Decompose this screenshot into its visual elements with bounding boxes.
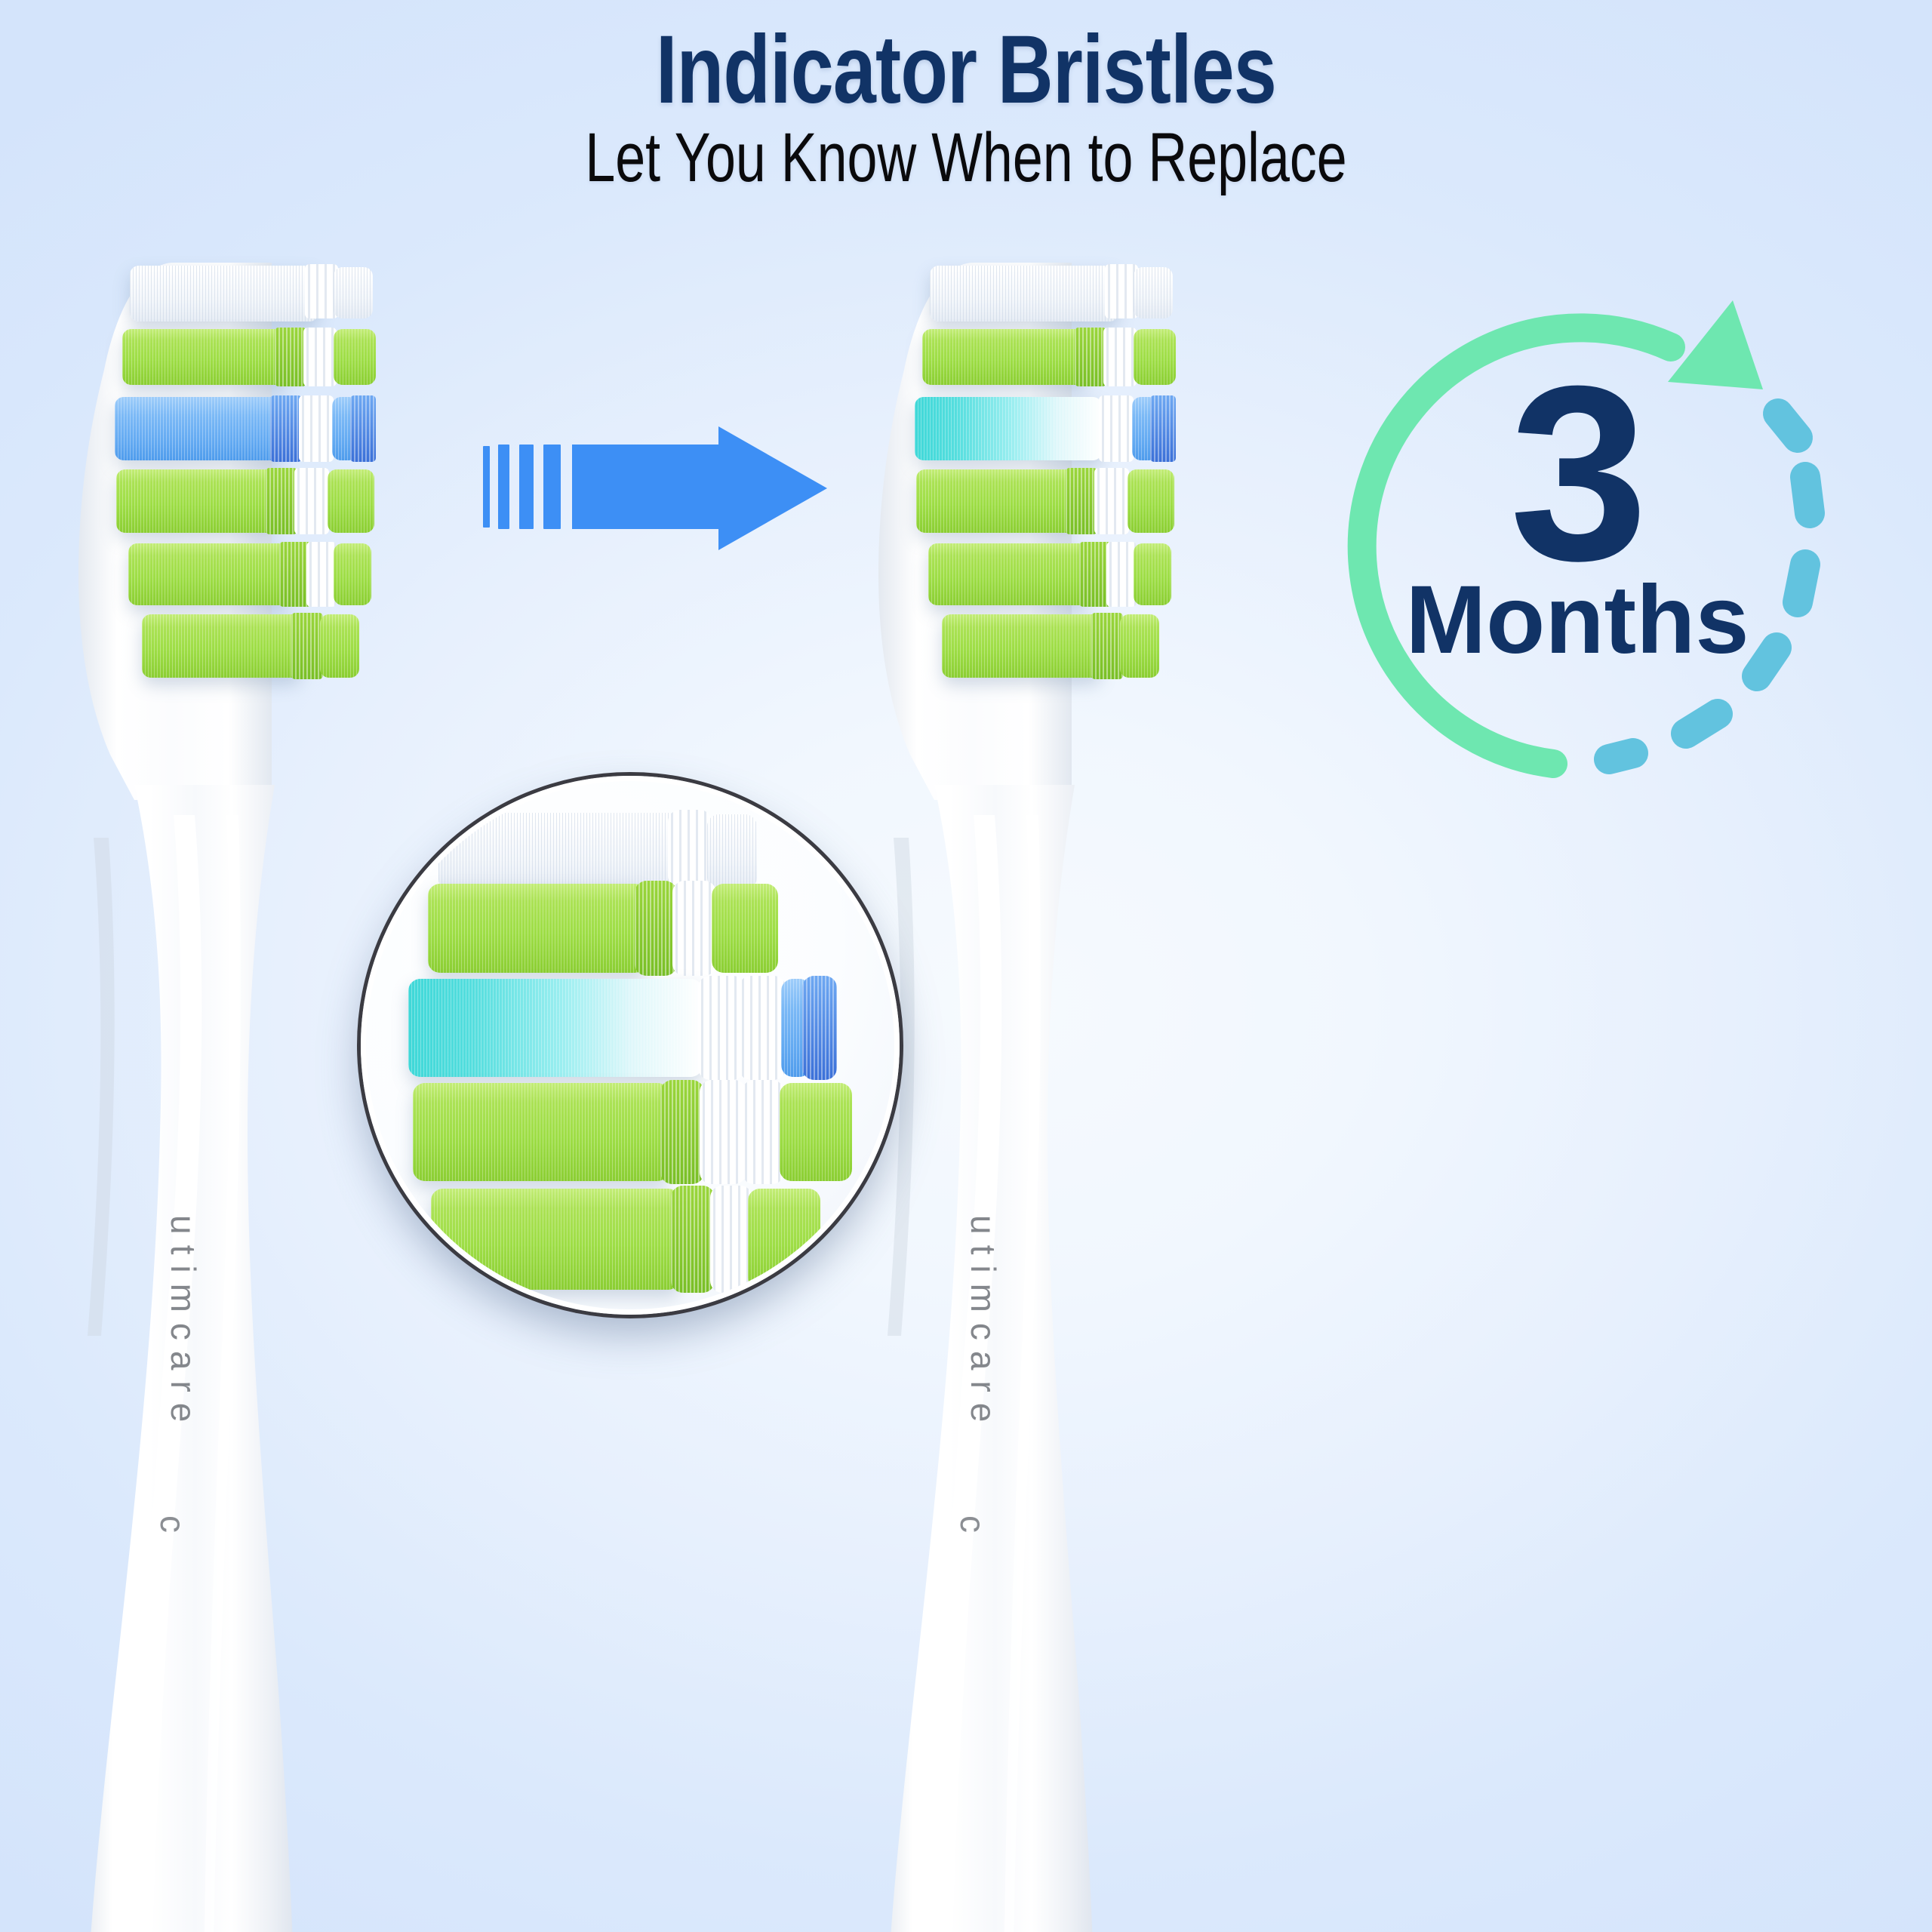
brand-glyph-right: c — [952, 1515, 993, 1533]
badge-number: 3 — [1313, 349, 1841, 598]
mag-tuft-white-3b — [742, 1080, 784, 1184]
time-progression-arrow — [483, 426, 830, 570]
bristle-row-white-top-right — [1134, 267, 1173, 318]
mag-row-green-3 — [431, 1189, 680, 1290]
bristle-row-green-2 — [916, 469, 1075, 533]
bristle-tuft-white-2 — [1099, 395, 1134, 462]
mag-tip-green-2 — [660, 1080, 704, 1184]
bristle-tip-green-1 — [275, 328, 306, 386]
mag-row-green-1-right — [712, 884, 778, 973]
page-subtitle: Let You Know When to Replace — [213, 123, 1720, 194]
bristle-tip-green-4 — [291, 613, 323, 679]
bristle-row-green-2-right — [1128, 469, 1174, 533]
bristle-field-left — [85, 264, 401, 717]
bristle-row-green-4-right — [320, 614, 359, 678]
magnifier-contents — [366, 781, 894, 1309]
bristle-row-green-1-right — [1134, 329, 1176, 385]
bristle-row-green-3 — [128, 543, 288, 605]
bristle-row-green-3-right — [1134, 543, 1171, 605]
mag-indicator-blue-right-tip — [802, 976, 837, 1080]
bristle-row-green-4-right — [1120, 614, 1159, 678]
bristle-tuft-white-1 — [303, 328, 337, 386]
bristle-row-green-2 — [116, 469, 275, 533]
page-title: Indicator Bristles — [193, 21, 1739, 120]
mag-indicator-bristle-faded — [408, 979, 703, 1077]
toothbrush-head-worn: utimcare c — [845, 257, 1268, 1932]
bristle-field-right — [884, 264, 1201, 717]
badge-unit-label: Months — [1313, 572, 1841, 669]
mag-tuft-white-2b — [739, 976, 786, 1080]
indicator-bristle-blue — [115, 397, 282, 460]
bristle-tuft-white-4 — [1106, 542, 1137, 607]
bristle-row-green-4 — [142, 614, 300, 678]
bristle-tuft-white-3 — [1094, 468, 1129, 534]
bristle-row-green-3 — [928, 543, 1088, 605]
mag-row-white-top — [438, 813, 680, 891]
bristle-tip-green-4 — [1091, 613, 1123, 679]
bristle-row-white-top-right — [334, 267, 373, 318]
bristle-tuft-white-3 — [294, 468, 329, 534]
bristle-row-green-1 — [122, 329, 287, 385]
mag-row-green-1 — [428, 884, 647, 973]
indicator-bristle-faded — [915, 397, 1102, 460]
mag-tip-green-3 — [671, 1186, 715, 1293]
bristle-row-green-1 — [922, 329, 1087, 385]
mag-tuft-white-3 — [700, 1080, 746, 1184]
header: Indicator Bristles Let You Know When to … — [0, 0, 1932, 193]
mag-row-green-2 — [413, 1083, 669, 1181]
bristle-row-white-top — [130, 266, 318, 321]
bristle-tip-green-2 — [1066, 468, 1097, 534]
infographic-canvas: Indicator Bristles Let You Know When to … — [0, 0, 1932, 1932]
mag-row-white-top-right — [707, 814, 757, 890]
replace-cycle-badge: 3 Months — [1313, 287, 1841, 815]
mag-tuft-white-2 — [698, 976, 745, 1080]
mag-tip-green-1 — [635, 881, 677, 976]
mag-tuft-white-1 — [672, 881, 716, 976]
bristle-tuft-white-4 — [306, 542, 337, 607]
bristle-tuft-white-2 — [299, 395, 334, 462]
mag-row-green-2-right — [780, 1083, 852, 1181]
mag-tuft-white-top — [668, 810, 712, 888]
bristle-row-white-top — [930, 266, 1118, 321]
bristle-row-green-3-right — [334, 543, 371, 605]
indicator-bristle-blue-right-tip — [1150, 395, 1176, 462]
bristle-tip-green-1 — [1075, 328, 1106, 386]
brand-glyph-left: c — [152, 1515, 193, 1533]
brand-label-left: utimcare — [163, 1215, 204, 1432]
mag-tuft-white-4 — [710, 1186, 752, 1293]
bristle-row-green-2-right — [328, 469, 374, 533]
bristle-row-green-1-right — [334, 329, 376, 385]
bristle-tuft-white-1 — [1103, 328, 1137, 386]
bristle-closeup-magnifier — [361, 776, 900, 1315]
bristle-row-green-4 — [942, 614, 1100, 678]
mag-row-green-3-right — [748, 1189, 820, 1290]
bristle-tip-green-2 — [266, 468, 297, 534]
brand-label-right: utimcare — [963, 1215, 1004, 1432]
indicator-bristle-blue-tip — [270, 395, 302, 462]
indicator-bristle-blue-right-tip — [350, 395, 376, 462]
